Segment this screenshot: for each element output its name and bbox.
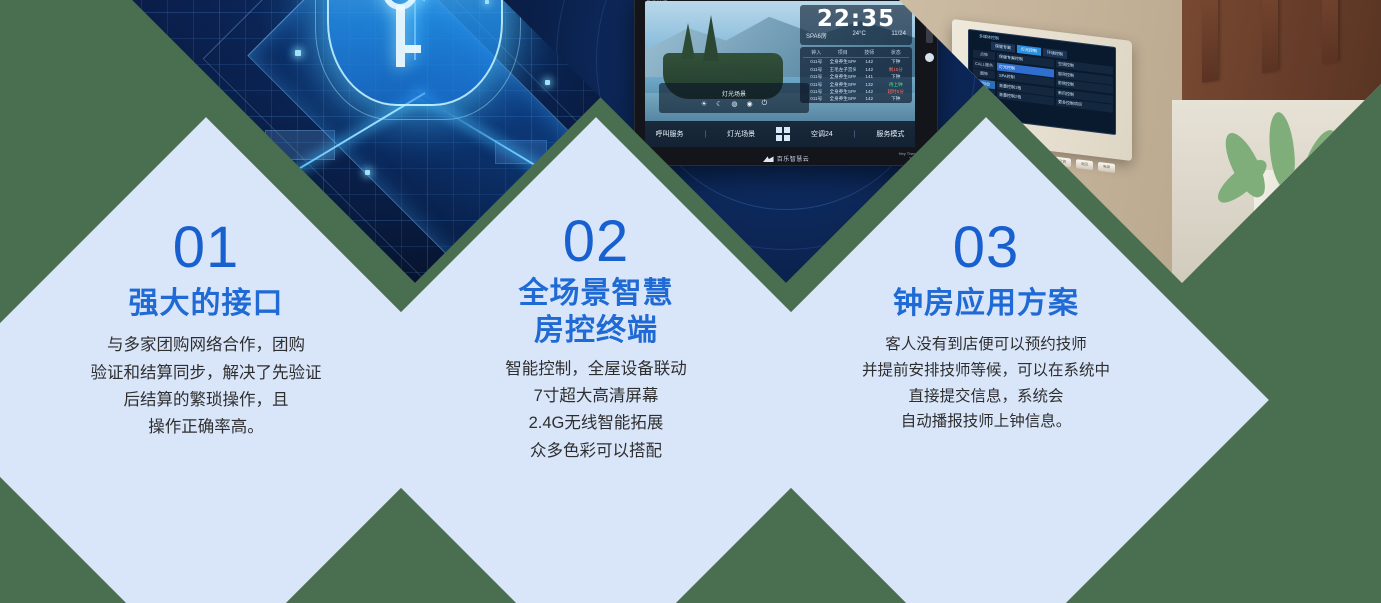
table-header-cell: 钟入 xyxy=(803,49,830,56)
temperature-label: 24°C xyxy=(852,31,865,40)
table-cell: 011号 xyxy=(803,67,830,73)
room-label: SPA6房 xyxy=(806,31,827,40)
clock-time: 22:35 xyxy=(804,7,908,31)
clock-meta: SPA6房 24°C 11/24 xyxy=(804,31,908,40)
table-header-cell: 技师 xyxy=(856,49,883,56)
card-title-02: 全场景智慧 房控终端 xyxy=(519,275,674,350)
table-cell-status: 下钟 xyxy=(883,96,910,102)
table-cell: 142 xyxy=(856,67,883,73)
panel-hard-button[interactable]: 场景 xyxy=(1032,154,1049,165)
panel-tab-0[interactable]: 保健专案 xyxy=(991,42,1015,53)
table-cell: 全身养生SPA xyxy=(830,59,857,65)
card-body-line: 验证和结算同步，解决了先验证 xyxy=(91,360,322,387)
table-row: 011号 王毛左子宫头部护 142 剩15分 xyxy=(803,67,909,73)
card-body-02: 智能控制，全屋设备联动 7寸超大高清屏幕 2.4G无线智能拓展 众多色彩可以搭配 xyxy=(505,356,687,465)
card-body-line: 后结算的繁琐操作，且 xyxy=(90,387,321,414)
card-title-03: 钟房应用方案 xyxy=(893,285,1079,323)
tablet-screen[interactable]: 22:35 SPA6房 24°C 11/24 钟入 项目 技师 状态 xyxy=(645,1,915,147)
panel-footer-back[interactable]: 返回 xyxy=(987,111,1001,119)
table-cell-status: 超时5分 xyxy=(883,89,910,95)
bulb-icon[interactable]: ◉ xyxy=(747,100,753,108)
bottom-bar-item-call[interactable]: 呼叫服务 xyxy=(655,129,683,139)
bottom-bar-item-mode[interactable]: 服务模式 xyxy=(876,129,904,139)
card-body-line: 众多色彩可以搭配 xyxy=(505,438,687,465)
card-number-02: 02 xyxy=(563,212,630,273)
light-icon[interactable]: ☀ xyxy=(701,100,707,108)
card-body-line: 7寸超大高清屏幕 xyxy=(505,383,687,410)
panel-tab-1[interactable]: 灯光控制 xyxy=(1017,45,1041,56)
bar-separator: | xyxy=(854,131,856,138)
table-row: 011号 全身养生SPA 142 下钟 xyxy=(803,96,909,102)
bottom-bar-item-scene[interactable]: 灯光场景 xyxy=(727,129,755,139)
tree-icon xyxy=(681,23,695,59)
card-title-01: 强大的接口 xyxy=(129,285,284,323)
card-title-line: 钟房应用方案 xyxy=(893,285,1079,323)
table-header-row: 钟入 项目 技师 状态 xyxy=(803,49,909,58)
bottom-bar-item-ac[interactable]: 空调24 xyxy=(811,129,833,139)
table-header-cell: 状态 xyxy=(883,49,910,56)
card-title-line: 全场景智慧 xyxy=(519,275,674,313)
panel-screen[interactable]: 多媒体控制 保健专案 灯光控制 环境控制 点钟 CALL服务 圈钟 呼叫台 点钟 xyxy=(968,29,1116,135)
table-cell: 011号 xyxy=(803,59,830,65)
brand-logo-icon xyxy=(763,156,774,162)
date-label: 11/24 xyxy=(891,31,906,40)
table-cell: 全身养生SPA xyxy=(830,89,857,95)
card-title-line: 强大的接口 xyxy=(129,285,284,323)
panel-hard-button[interactable]: 电源 xyxy=(1098,162,1115,173)
tablet-brand-bottom: 百乐智慧云 xyxy=(763,154,810,163)
infographic-stage: 01 强大的接口 与多家团购网络合作，团购 验证和结算同步，解决了先验证 后结算… xyxy=(0,0,1381,603)
table-row: 011号 全身养生SPA 142 下钟 xyxy=(803,59,909,65)
panel-tab-2[interactable]: 环境控制 xyxy=(1043,48,1067,59)
card-body-line: 直接提交信息，系统会 xyxy=(862,384,1110,410)
table-cell: 全身养生SPA xyxy=(830,82,857,88)
off-icon[interactable]: ⏻ xyxy=(762,100,768,108)
scene-overlay-icons[interactable]: ☀ ☾ ◍ ◉ ⏻ xyxy=(701,100,767,108)
tablet-bottom-bar[interactable]: 呼叫服务 | 灯光场景 空调24 | 服务模式 xyxy=(645,121,915,147)
table-cell: 全身养生SPA xyxy=(830,96,857,102)
tree-icon xyxy=(703,15,719,61)
table-cell: 142 xyxy=(856,89,883,95)
clock-widget: 22:35 SPA6房 24°C 11/24 xyxy=(800,5,912,45)
table-cell: 全身养生SPA xyxy=(830,74,857,80)
card-body-01: 与多家团购网络合作，团购 验证和结算同步，解决了先验证 后结算的繁琐操作，且 操… xyxy=(91,332,322,441)
card-body-line: 操作正确率高。 xyxy=(90,414,321,441)
panel-hard-button[interactable]: 空调 xyxy=(1054,156,1071,167)
scene-overlay-widget[interactable]: 灯光场景 ☀ ☾ ◍ ◉ ⏻ xyxy=(659,83,809,113)
card-body-line: 并提前安排技师等候，可以在系统中 xyxy=(862,358,1110,384)
panel-mid-items[interactable]: 保健专案控制 灯光控制 SPA控制 音量控制1档 音量控制2档 xyxy=(997,52,1054,105)
table-row: 011号 全身养生SPA 142 超时5分 xyxy=(803,89,909,95)
panel-hard-button[interactable]: 返回 xyxy=(1076,159,1093,170)
moon-icon[interactable]: ☾ xyxy=(716,100,722,108)
plant-pot xyxy=(1254,170,1332,240)
apps-grid-icon[interactable] xyxy=(776,127,790,141)
card-body-line: 智能控制，全屋设备联动 xyxy=(505,356,687,383)
wall-tablet-device[interactable]: 智慧房控 Hey There BlissfulTo Be Smart 22:35… xyxy=(634,0,938,166)
lamp-icon[interactable]: ◍ xyxy=(731,99,737,107)
card-body-line: 自动播报技师上钟信息。 xyxy=(862,409,1110,435)
tablet-camera-icon xyxy=(925,53,934,62)
bar-separator: | xyxy=(704,130,706,137)
table-cell-status: 剩15分 xyxy=(883,67,910,73)
tablet-model-text: Hey There BlissfulTo Be Smart xyxy=(899,151,931,161)
card-number-03: 03 xyxy=(953,218,1020,279)
card-body-line: 2.4G无线智能拓展 xyxy=(505,410,687,437)
card-title-line: 房控终端 xyxy=(519,312,674,350)
table-cell: 132 xyxy=(856,82,883,88)
card-body-03: 客人没有到店便可以预约技师 并提前安排技师等候，可以在系统中 直接提交信息，系统… xyxy=(862,332,1110,434)
table-cell: 142 xyxy=(856,96,883,102)
panel-footer-home[interactable]: 首页 xyxy=(971,109,985,117)
brand-name: 百乐智慧云 xyxy=(777,157,810,163)
panel-right-items[interactable]: 空调控制 窗帘控制 影院控制 新风控制 更多控制项目 xyxy=(1056,60,1113,113)
table-header-cell: 项目 xyxy=(830,49,857,56)
feature-card-03-content: 03 钟房应用方案 客人没有到店便可以预约技师 并提前安排技师等候，可以在系统中… xyxy=(786,200,1186,600)
service-table: 钟入 项目 技师 状态 011号 全身养生SPA 142 下钟 011号 xyxy=(800,47,912,103)
table-row: 011号 全身养生SPA 132 待上钟 xyxy=(803,82,909,88)
card-body-line: 客人没有到店便可以预约技师 xyxy=(862,332,1110,358)
table-cell-status: 下钟 xyxy=(883,59,910,65)
table-cell: 141 xyxy=(856,74,883,80)
table-cell-status: 待上钟 xyxy=(883,82,910,88)
table-cell: 011号 xyxy=(803,74,830,80)
table-cell-status: 下钟 xyxy=(883,74,910,80)
scene-overlay-label: 灯光场景 xyxy=(722,88,746,97)
table-cell: 142 xyxy=(856,59,883,65)
card-number-01: 01 xyxy=(173,218,240,279)
table-row: 011号 全身养生SPA 141 下钟 xyxy=(803,74,909,80)
card-body-line: 与多家团购网络合作，团购 xyxy=(91,332,322,359)
table-cell: 王毛左子宫头部护 xyxy=(830,67,857,73)
